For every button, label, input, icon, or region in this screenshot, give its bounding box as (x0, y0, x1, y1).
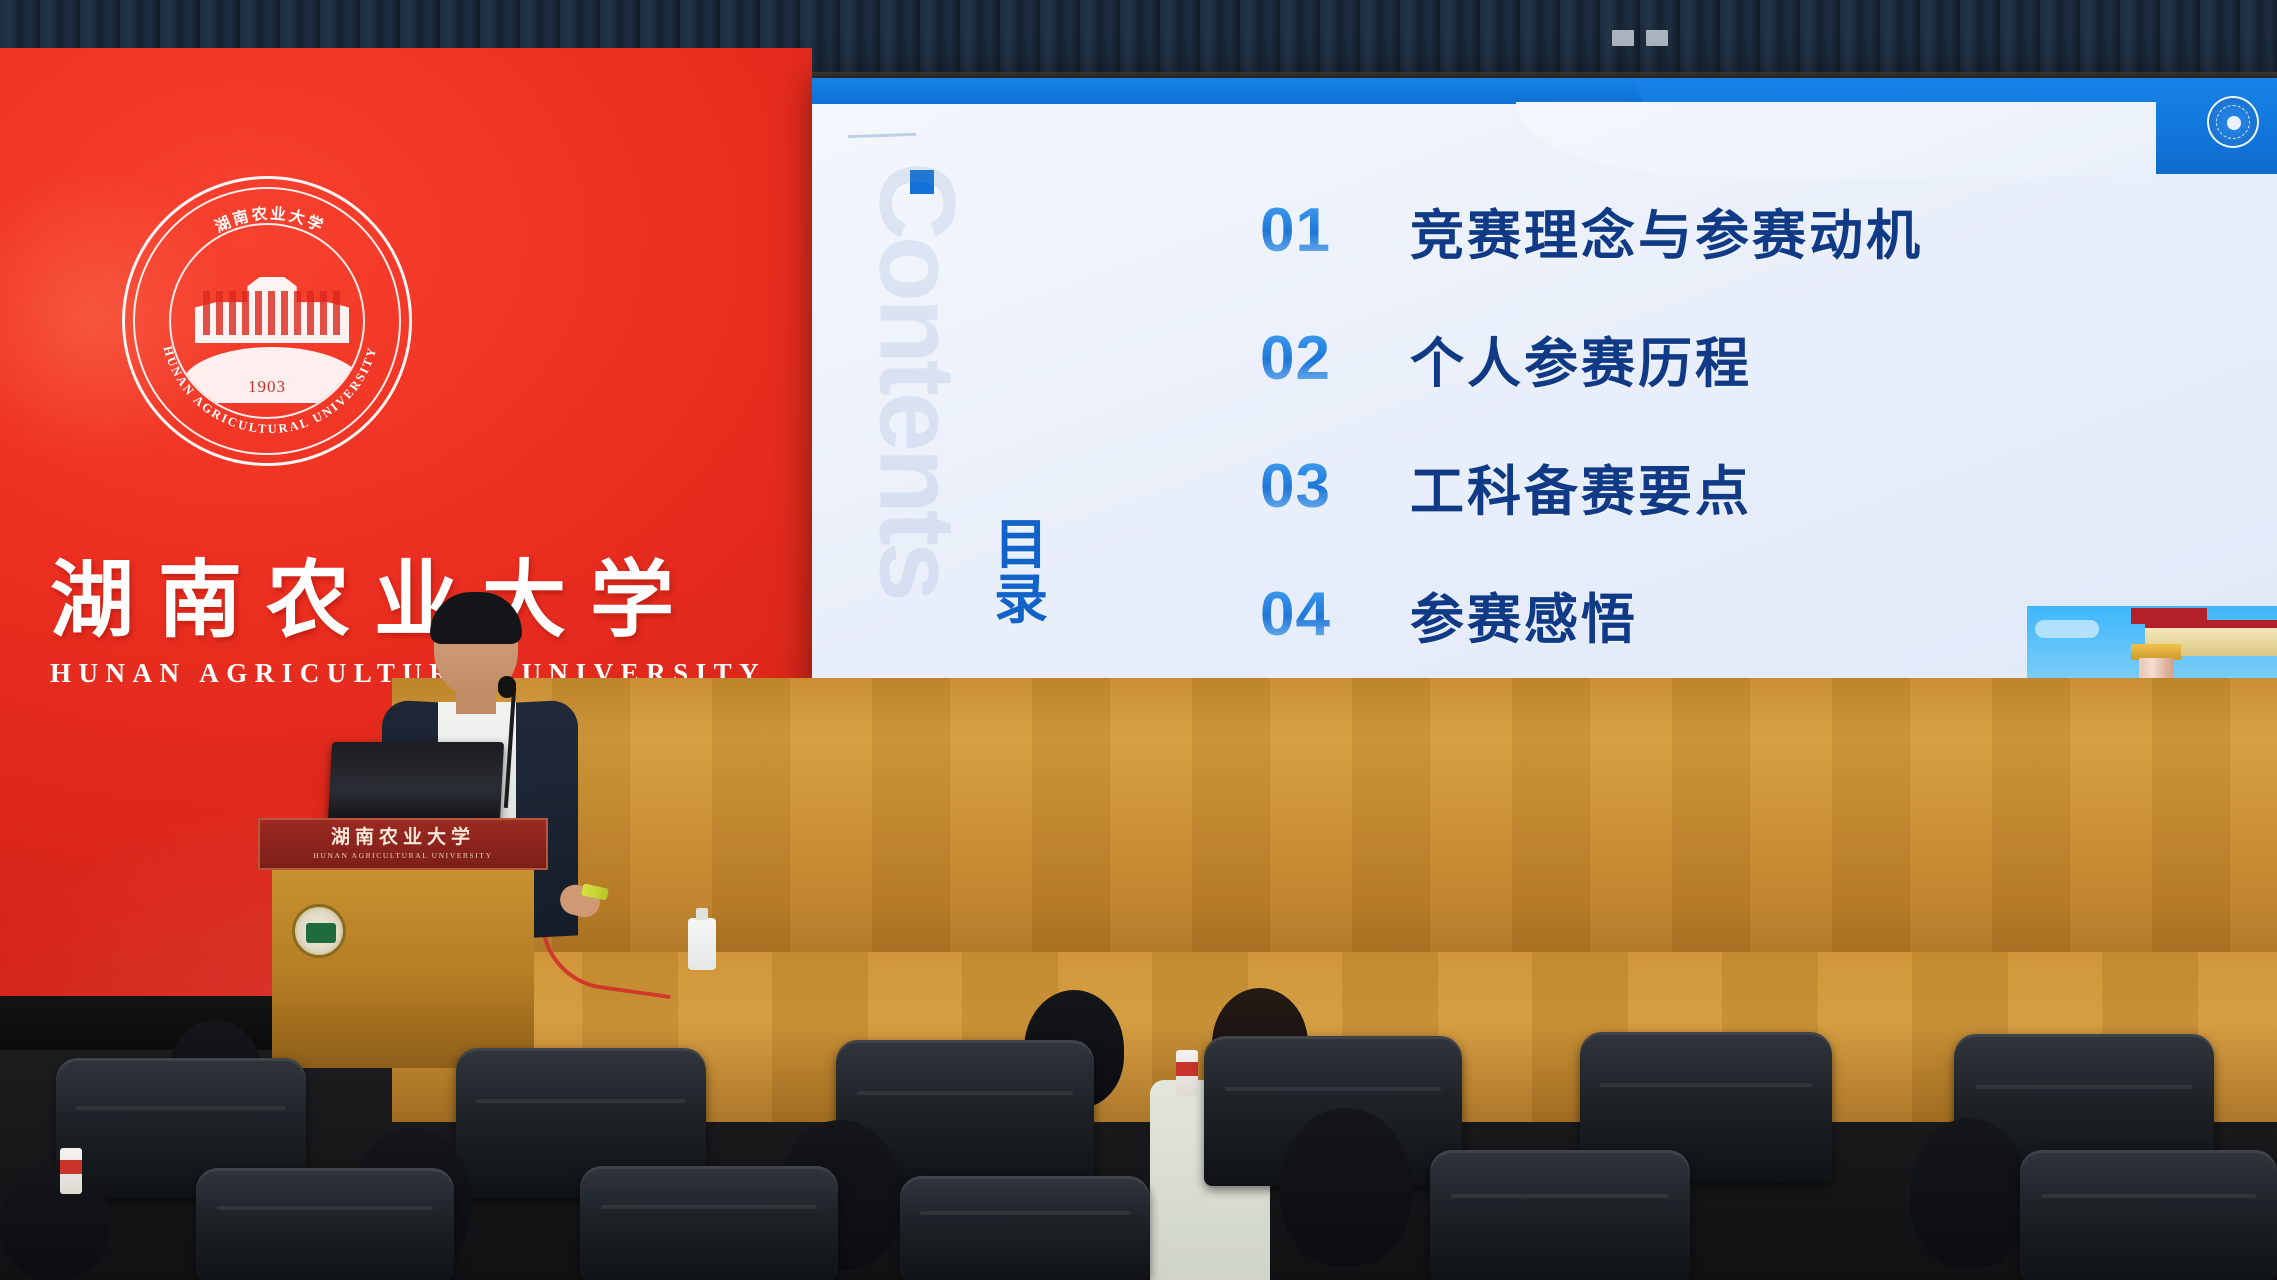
contents-number-01: 01 (1260, 195, 1364, 266)
presenter-hair (430, 592, 522, 644)
contents-item-01: 01 竞赛理念与参赛动机 (1260, 182, 2160, 278)
contents-number-03: 03 (1260, 451, 1364, 522)
emblem-building-windows (203, 291, 341, 335)
water-bottle-stage (688, 918, 716, 970)
photo-gate-roof (2131, 608, 2207, 624)
audience-head (1280, 1108, 1412, 1266)
contents-label-02: 个人参赛历程 (1410, 319, 1752, 398)
contents-label-01: 竞赛理念与参赛动机 (1410, 191, 1923, 270)
audience-seat (580, 1166, 838, 1280)
university-emblem: 湖南农业大学 HUNAN AGRICULTURAL UNIVERSITY 190… (122, 176, 412, 466)
lectern-plaque-cn: 湖南农业大学 (331, 828, 475, 847)
audience-seat (1430, 1150, 1690, 1280)
photo-cloud (2035, 620, 2099, 638)
contents-label-03: 工科备赛要点 (1410, 447, 1752, 526)
slide-top-sweep (1637, 78, 2277, 174)
lectern-body (272, 870, 534, 1068)
audience-head (0, 1164, 110, 1280)
slide-accent-dash (848, 133, 916, 138)
audience-seat (900, 1176, 1150, 1280)
emblem-core-disc: 1903 (169, 223, 365, 419)
contents-item-02: 02 个人参赛历程 (1260, 310, 2160, 406)
contents-item-04: 04 参赛感悟 (1260, 566, 2160, 662)
slide-contents-list: 01 竞赛理念与参赛动机 02 个人参赛历程 03 工科备赛要点 04 参赛感悟 (1260, 182, 2160, 694)
contents-item-03: 03 工科备赛要点 (1260, 438, 2160, 534)
slide-section-label-cn: 目 录 (994, 518, 1048, 628)
lectern: 湖南农业大学 HUNAN AGRICULTURAL UNIVERSITY (258, 818, 548, 1068)
microphone-head (498, 676, 516, 698)
contents-number-04: 04 (1260, 579, 1364, 650)
slide-university-emblem-icon (2207, 96, 2259, 148)
contents-number-02: 02 (1260, 323, 1364, 394)
lectern-plaque-en: HUNAN AGRICULTURAL UNIVERSITY (313, 851, 492, 860)
ceiling-vent-right (1646, 30, 1668, 46)
water-bottle-audience (60, 1148, 82, 1194)
water-bottle-audience (1176, 1050, 1198, 1096)
lectern-plaque: 湖南农业大学 HUNAN AGRICULTURAL UNIVERSITY (258, 818, 548, 870)
mulu-char-1: 目 (994, 518, 1048, 573)
audience-head (1910, 1118, 2028, 1268)
audience-seat (196, 1168, 454, 1280)
emblem-founding-year: 1903 (171, 377, 363, 397)
ceiling-vent-left (1612, 30, 1634, 46)
contents-label-04: 参赛感悟 (1410, 575, 1638, 654)
slide-watermark-contents: Contents (868, 162, 967, 598)
mulu-char-2: 录 (994, 573, 1048, 628)
lectern-seal-emblem (292, 904, 346, 958)
podium-laptop (328, 742, 504, 822)
audience-seat (2020, 1150, 2277, 1280)
lecture-hall-scene: 湖南农业大学 HUNAN AGRICULTURAL UNIVERSITY 190… (0, 0, 2277, 1280)
